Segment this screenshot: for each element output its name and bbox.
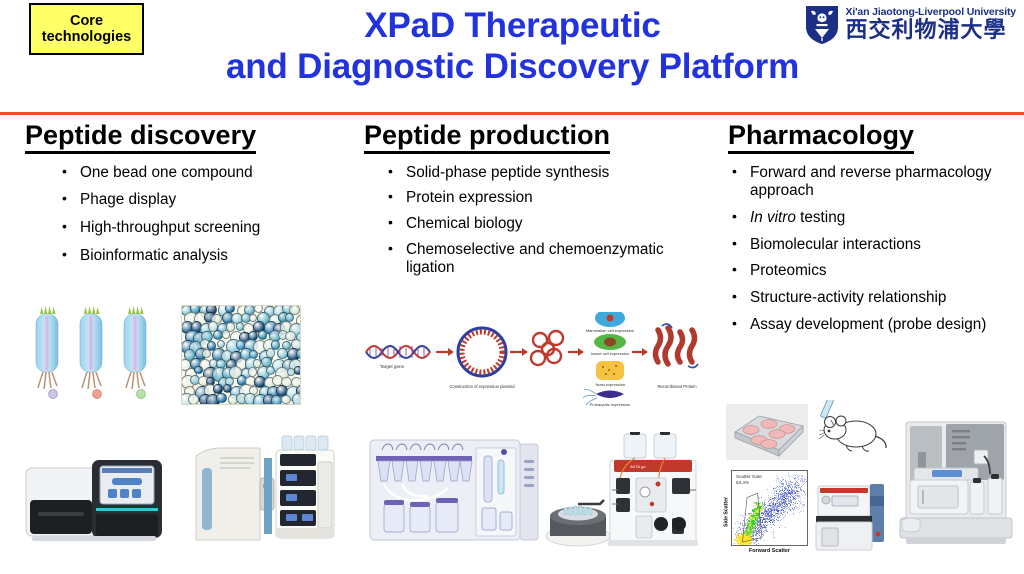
- list-item: Proteomics: [724, 262, 1018, 281]
- list-item-text: Forward and reverse pharmacology approac…: [750, 164, 991, 200]
- bead: [188, 394, 199, 405]
- facs-gate-label: Scatter Gate 63.4%: [736, 474, 762, 486]
- bead-canvas: [181, 305, 301, 405]
- bead: [222, 330, 231, 339]
- label-target-gene: Target gene: [380, 364, 405, 369]
- facs-gate-percent: 63.4%: [736, 480, 762, 486]
- label-prokaryotic: Prokaryotic expression: [590, 402, 630, 407]
- column-peptide-production: Peptide production Solid-phase peptide s…: [356, 120, 706, 285]
- list-item: Solid-phase peptide synthesis: [380, 164, 706, 183]
- list-item: One bead one compound: [54, 164, 342, 183]
- phage-display-diagram: [26, 306, 156, 402]
- list-item: Bioinformatic analysis: [54, 247, 342, 266]
- university-crest-icon: [805, 5, 839, 45]
- bead: [266, 366, 275, 375]
- column-peptide-discovery: Peptide discovery One bead one compound …: [12, 120, 342, 274]
- cell-culture-plate-icon: [726, 404, 808, 460]
- slide-root: Core technologies XPaD Therapeutic and D…: [0, 0, 1024, 574]
- university-name-english: Xi'an Jiaotong-Liverpool University: [845, 7, 1016, 18]
- column-heading-pharmacology: Pharmacology: [728, 120, 914, 154]
- mass-spectrometer-icon: [190, 432, 342, 554]
- label-recombinant-protein: Recombinant Protein: [657, 384, 697, 389]
- sequencer-icon: [18, 438, 170, 554]
- list-item-text: testing: [800, 209, 845, 226]
- list-item: Phage display: [54, 191, 342, 210]
- university-name-block: Xi'an Jiaotong-Liverpool University 西交利物…: [845, 7, 1016, 42]
- page-title-line-1: XPaD Therapeutic: [140, 5, 885, 46]
- mouse-injection-illustration: [818, 400, 888, 460]
- column-heading-peptide-discovery: Peptide discovery: [25, 120, 256, 154]
- column-pharmacology: Pharmacology Forward and reverse pharmac…: [718, 120, 1018, 342]
- list-item: Chemical biology: [380, 215, 706, 234]
- protein-expression-workflow-diagram: Target gene Construction of expression p…: [362, 312, 702, 408]
- column-heading-peptide-production: Peptide production: [364, 120, 610, 154]
- list-item: Structure-activity relationship: [724, 289, 1018, 308]
- bullet-list-peptide-discovery: One bead one compound Phage display High…: [54, 164, 342, 266]
- label-yeast: Yeast expression: [595, 382, 625, 387]
- page-title-line-2: and Diagnostic Discovery Platform: [140, 46, 885, 87]
- dna-sequencer-photo: [18, 438, 170, 554]
- lc-mass-spectrometer-photo: [190, 432, 342, 554]
- list-item-text: Biomolecular interactions: [750, 236, 921, 253]
- bead: [258, 330, 268, 340]
- label-mammalian: Mammalian cell expression: [586, 328, 634, 333]
- list-item-italic: In vitro: [750, 209, 796, 226]
- bead: [294, 366, 301, 375]
- label-expression-plasmid: Construction of expression plasmid: [449, 384, 515, 389]
- flow-cytometer-photo: [812, 478, 890, 554]
- bead: [216, 393, 227, 404]
- phage-particles-icon: [26, 306, 156, 402]
- list-item-text: Proteomics: [750, 262, 827, 279]
- list-item: Biomolecular interactions: [724, 236, 1018, 255]
- page-title: XPaD Therapeutic and Diagnostic Discover…: [140, 5, 885, 88]
- list-item: Assay development (probe design): [724, 316, 1018, 335]
- university-name-chinese: 西交利物浦大學: [845, 19, 1016, 42]
- one-bead-one-compound-library-image: [181, 305, 301, 405]
- peptide-synthesizer-photo: [366, 432, 542, 552]
- cell-culture-plate-image: [726, 404, 808, 460]
- bullet-list-peptide-production: Solid-phase peptide synthesis Protein ex…: [380, 164, 706, 278]
- badge-line-2: technologies: [42, 29, 131, 45]
- analyzer-icon: [896, 420, 1016, 552]
- badge-line-1: Core: [70, 13, 103, 29]
- fplc-chromatography-system-photo: AKTA go: [540, 432, 702, 556]
- facs-plot-area: Scatter Gate 63.4%: [731, 470, 808, 546]
- bead: [296, 349, 301, 359]
- list-item: In vitro testing: [724, 209, 1018, 228]
- flow-cytometry-scatter-plot: Side Scatter Scatter Gate 63.4% Forward …: [722, 470, 808, 554]
- synthesizer-icon: [366, 432, 542, 552]
- header-divider: [0, 112, 1024, 115]
- analytical-instrument-photo: [896, 420, 1016, 552]
- bead: [281, 395, 291, 405]
- mouse-icon: [818, 400, 888, 460]
- bead: [202, 349, 211, 358]
- core-technologies-badge: Core technologies: [29, 3, 144, 55]
- list-item: High-throughput screening: [54, 219, 342, 238]
- bead: [292, 393, 302, 405]
- facs-y-axis-label: Side Scatter: [722, 470, 731, 554]
- fplc-icon: AKTA go: [540, 432, 702, 556]
- svg-text:AKTA go: AKTA go: [630, 464, 646, 469]
- expression-workflow-icon: Target gene Construction of expression p…: [362, 312, 702, 408]
- list-item: Chemoselective and chemoenzymatic ligati…: [380, 241, 706, 278]
- facs-x-axis-label: Forward Scatter: [731, 546, 808, 554]
- list-item: Protein expression: [380, 189, 706, 208]
- flow-cytometer-icon: [812, 478, 890, 554]
- bead: [194, 366, 203, 375]
- list-item: Forward and reverse pharmacology approac…: [724, 164, 1018, 201]
- bead: [271, 395, 282, 405]
- university-logo: Xi'an Jiaotong-Liverpool University 西交利物…: [805, 5, 1016, 45]
- label-insect: Insect cell expression: [591, 351, 629, 356]
- list-item-text: Structure-activity relationship: [750, 289, 946, 306]
- bullet-list-pharmacology: Forward and reverse pharmacology approac…: [724, 164, 1018, 335]
- list-item-text: Assay development (probe design): [750, 316, 986, 333]
